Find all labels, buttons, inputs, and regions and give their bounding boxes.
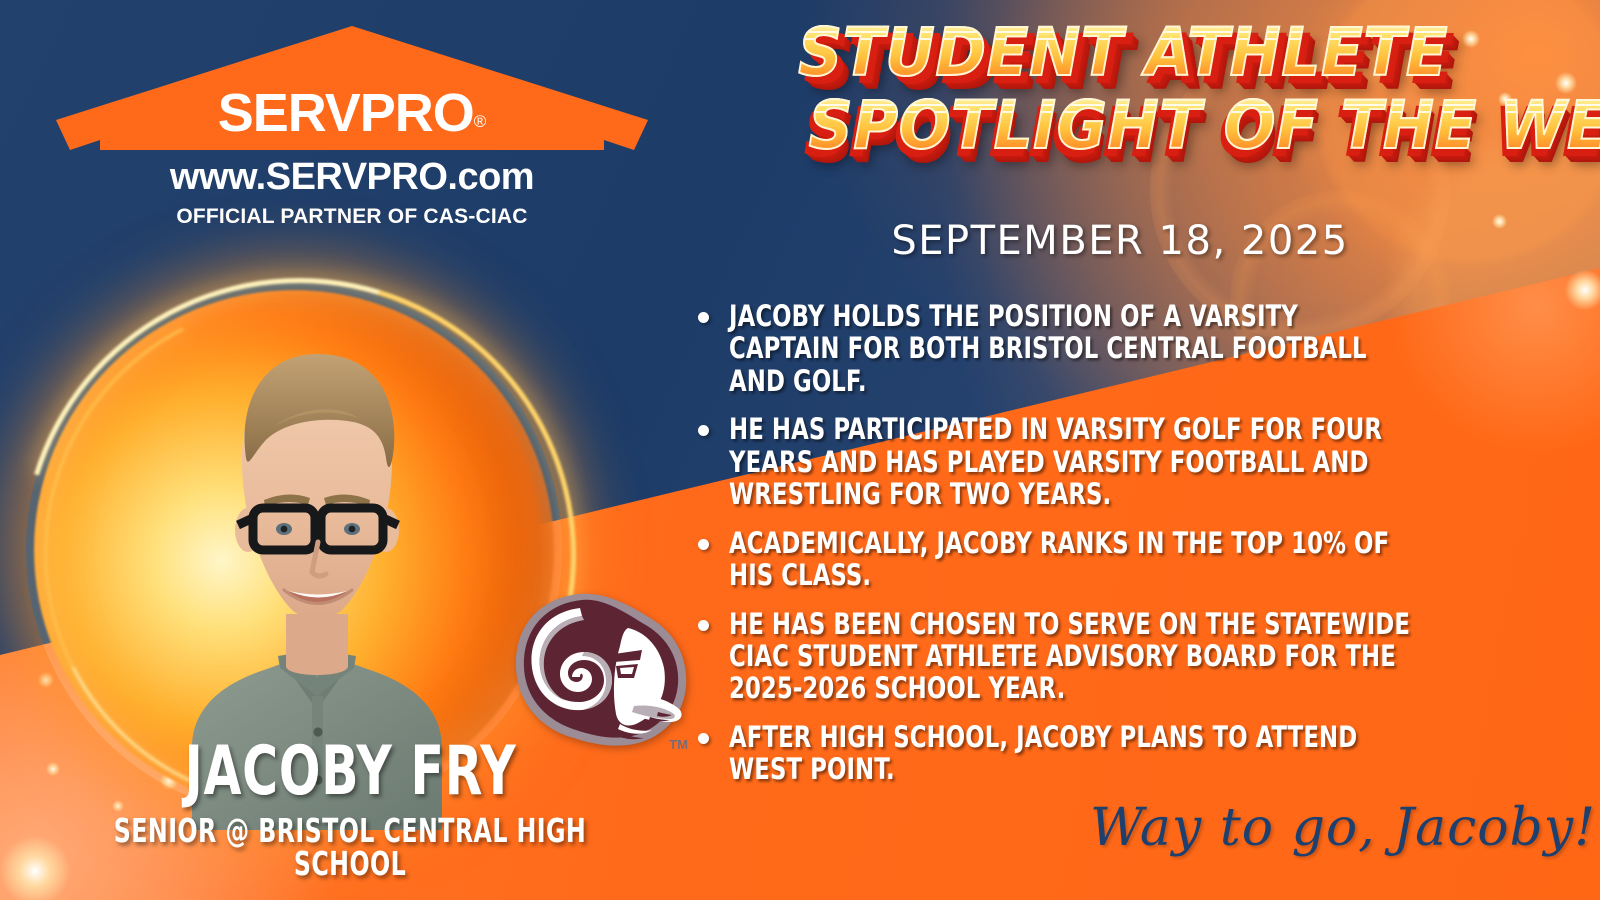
headline: STUDENT ATHLETE STUDENT ATHLETE SPOTLIGH… xyxy=(770,22,1470,157)
list-item-text: JACOBY HOLDS THE POSITION OF A VARSITY C… xyxy=(729,300,1524,397)
list-item-text: ACADEMICALLY, JACOBY RANKS IN THE TOP 10… xyxy=(729,527,1524,592)
headline-line-2: SPOTLIGHT OF THE WEEK SPOTLIGHT OF THE W… xyxy=(770,95,1470,158)
list-item-text: HE HAS PARTICIPATED IN VARSITY GOLF FOR … xyxy=(729,413,1524,510)
list-item: AFTER HIGH SCHOOL, JACOBY PLANS TO ATTEN… xyxy=(694,721,1524,786)
bullet-list: JACOBY HOLDS THE POSITION OF A VARSITY C… xyxy=(694,300,1524,802)
servpro-partner-line: OFFICIAL PARTNER OF CAS-CIAC xyxy=(56,205,648,229)
issue-date: SEPTEMBER 18, 2025 xyxy=(770,218,1470,264)
spotlight-graphic: SERVPRO® www.SERVPRO.com OFFICIAL PARTNE… xyxy=(0,0,1600,900)
list-item: ACADEMICALLY, JACOBY RANKS IN THE TOP 10… xyxy=(694,527,1524,592)
bullet-dot-icon xyxy=(698,425,709,436)
list-item: HE HAS PARTICIPATED IN VARSITY GOLF FOR … xyxy=(694,413,1524,510)
registered-mark-icon: ® xyxy=(474,112,487,131)
bullet-dot-icon xyxy=(698,312,709,323)
list-item-text: HE HAS BEEN CHOSEN TO SERVE ON THE STATE… xyxy=(729,608,1524,705)
headline-line-1: STUDENT ATHLETE STUDENT ATHLETE xyxy=(770,22,1470,85)
servpro-website: www.SERVPRO.com xyxy=(56,156,648,199)
athlete-school: SENIOR @ BRISTOL CENTRAL HIGH SCHOOL xyxy=(0,814,700,880)
athlete-name: JACOBY FRY xyxy=(0,738,700,806)
servpro-wordmark: SERVPRO® xyxy=(56,82,648,144)
athlete-identity: JACOBY FRY SENIOR @ BRISTOL CENTRAL HIGH… xyxy=(0,738,700,880)
servpro-house-icon: SERVPRO® xyxy=(56,26,648,150)
headline-line-1-text: STUDENT ATHLETE xyxy=(798,22,1448,85)
servpro-logo: SERVPRO® www.SERVPRO.com OFFICIAL PARTNE… xyxy=(56,26,648,229)
congratulation-signature: Way to go, Jacoby! xyxy=(1090,798,1596,858)
bullet-dot-icon xyxy=(698,620,709,631)
headline-line-2-text: SPOTLIGHT OF THE WEEK xyxy=(809,95,1600,158)
bullet-dot-icon xyxy=(698,539,709,550)
list-item: HE HAS BEEN CHOSEN TO SERVE ON THE STATE… xyxy=(694,608,1524,705)
list-item-text: AFTER HIGH SCHOOL, JACOBY PLANS TO ATTEN… xyxy=(729,721,1524,786)
list-item: JACOBY HOLDS THE POSITION OF A VARSITY C… xyxy=(694,300,1524,397)
bristol-central-rams-logo: TM xyxy=(508,588,694,758)
